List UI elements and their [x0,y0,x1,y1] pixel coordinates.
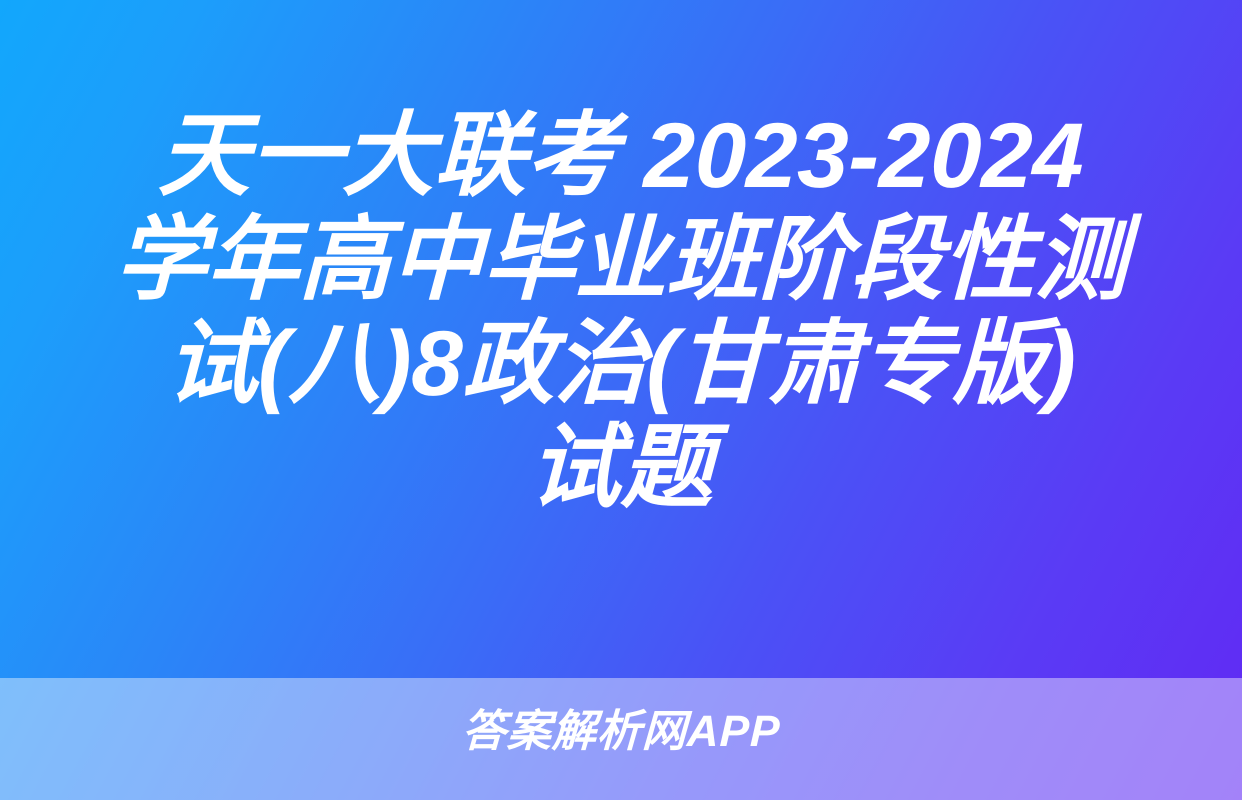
title-line-2: 学年高中毕业班阶段性测 [39,208,1203,312]
watermark-bar: 答案解析网APP [0,678,1242,800]
title-line-3: 试(八)8政治(甘肃专版) [39,312,1203,416]
title-line-4: 试题 [39,416,1203,520]
exam-cover-card: 天一大联考 2023-2024 学年高中毕业班阶段性测 试(八)8政治(甘肃专版… [0,0,1242,800]
page-title: 天一大联考 2023-2024 学年高中毕业班阶段性测 试(八)8政治(甘肃专版… [0,104,1242,520]
watermark-label: 答案解析网APP [461,708,781,756]
title-line-1: 天一大联考 2023-2024 [39,104,1203,208]
